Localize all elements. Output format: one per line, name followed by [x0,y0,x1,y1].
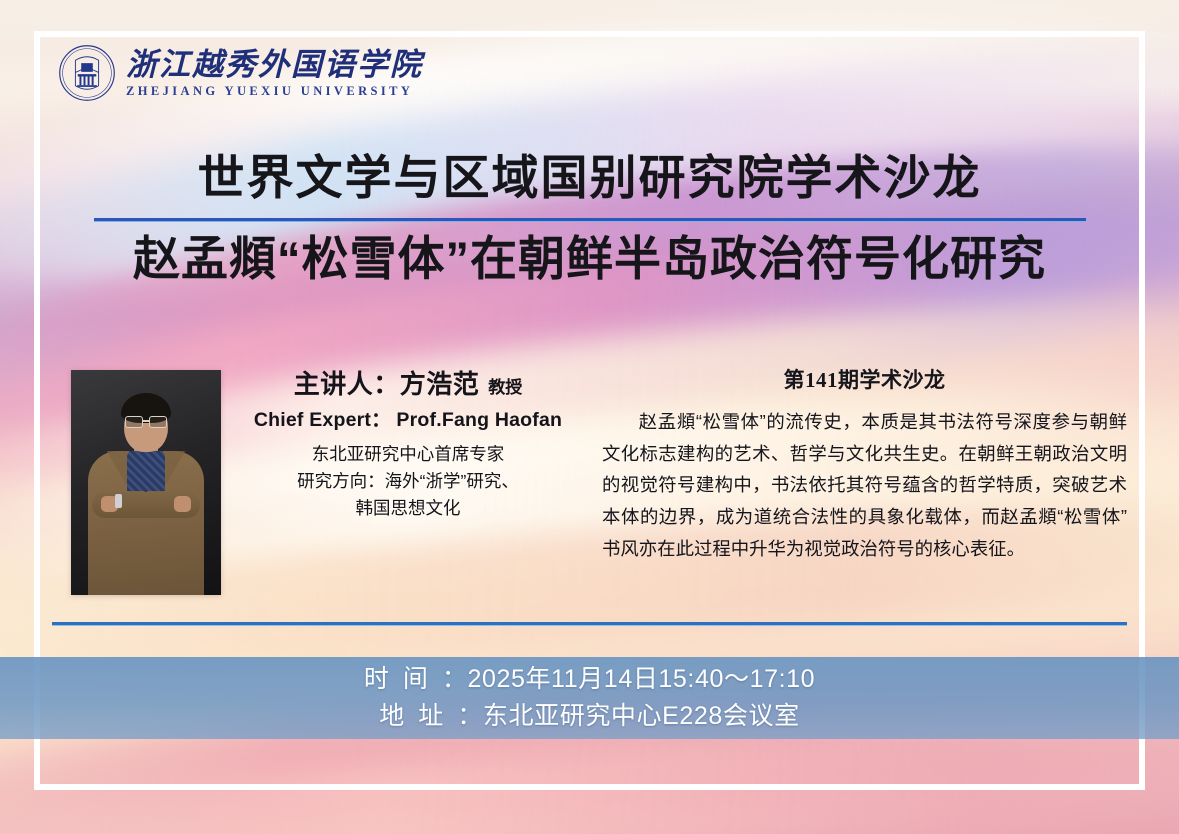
speaker-research-field-line1: 研究方向：海外“浙学”研究、 [240,468,576,495]
portrait-glasses-icon [125,416,167,427]
speaker-research-field-line2: 韩国思想文化 [240,495,576,522]
abstract-block: 第141期学术沙龙 赵孟頫“松雪体”的流传史，本质是其书法符号深度参与朝鲜文化标… [576,362,1127,612]
abstract-body: 赵孟頫“松雪体”的流传史，本质是其书法符号深度参与朝鲜文化标志建构的艺术、哲学与… [602,406,1127,564]
event-time-row: 时间：2025年11月14日15:40～17:10 [364,661,815,699]
event-time-label: 时间 [364,665,442,693]
event-place-row: 地址：东北亚研究中心E228会议室 [379,698,799,736]
photo-column [52,362,240,612]
event-details-banner: 时间：2025年11月14日15:40～17:10 地址：东北亚研究中心E228… [0,657,1179,739]
speaker-title-suffix: 教授 [488,378,522,397]
logo-name-en: ZHEJIANG YUEXIU UNIVERSITY [126,85,423,98]
event-place-label: 地址 [379,702,457,730]
university-seal-icon [58,44,116,102]
poster-canvas: 浙江越秀外国语学院 ZHEJIANG YUEXIU UNIVERSITY 世界文… [0,0,1179,834]
speaker-portrait-photo [71,370,221,595]
content-row: 主讲人：方浩范教授 Chief Expert： Prof.Fang Haofan… [52,362,1127,612]
speaker-name: 主讲人：方浩范 [294,369,480,399]
speaker-info: 主讲人：方浩范教授 Chief Expert： Prof.Fang Haofan… [240,362,576,612]
title-divider [94,218,1086,222]
speaker-role: 东北亚研究中心首席专家 [240,441,576,468]
page-title: 世界文学与区域国别研究院学术沙龙 [0,152,1179,205]
portrait-shirt [127,451,165,491]
logo-name-cn: 浙江越秀外国语学院 [126,49,423,80]
salon-session-heading: 第141期学术沙龙 [602,364,1127,394]
portrait-glasses-bridge [142,420,150,422]
speaker-name-en: Chief Expert： Prof.Fang Haofan [240,408,576,432]
university-logo: 浙江越秀外国语学院 ZHEJIANG YUEXIU UNIVERSITY [58,44,423,102]
page-subtitle: 赵孟頫“松雪体”在朝鲜半岛政治符号化研究 [0,233,1179,286]
speaker-name-row: 主讲人：方浩范教授 [240,368,576,401]
event-place-value: ：东北亚研究中心E228会议室 [457,702,799,730]
event-time-value: ：2025年11月14日15:40～17:10 [442,665,815,693]
lower-divider [52,622,1127,626]
portrait-wristwatch [115,494,122,508]
title-block: 世界文学与区域国别研究院学术沙龙 赵孟頫“松雪体”在朝鲜半岛政治符号化研究 [0,152,1179,285]
portrait-hand-right [174,496,191,512]
